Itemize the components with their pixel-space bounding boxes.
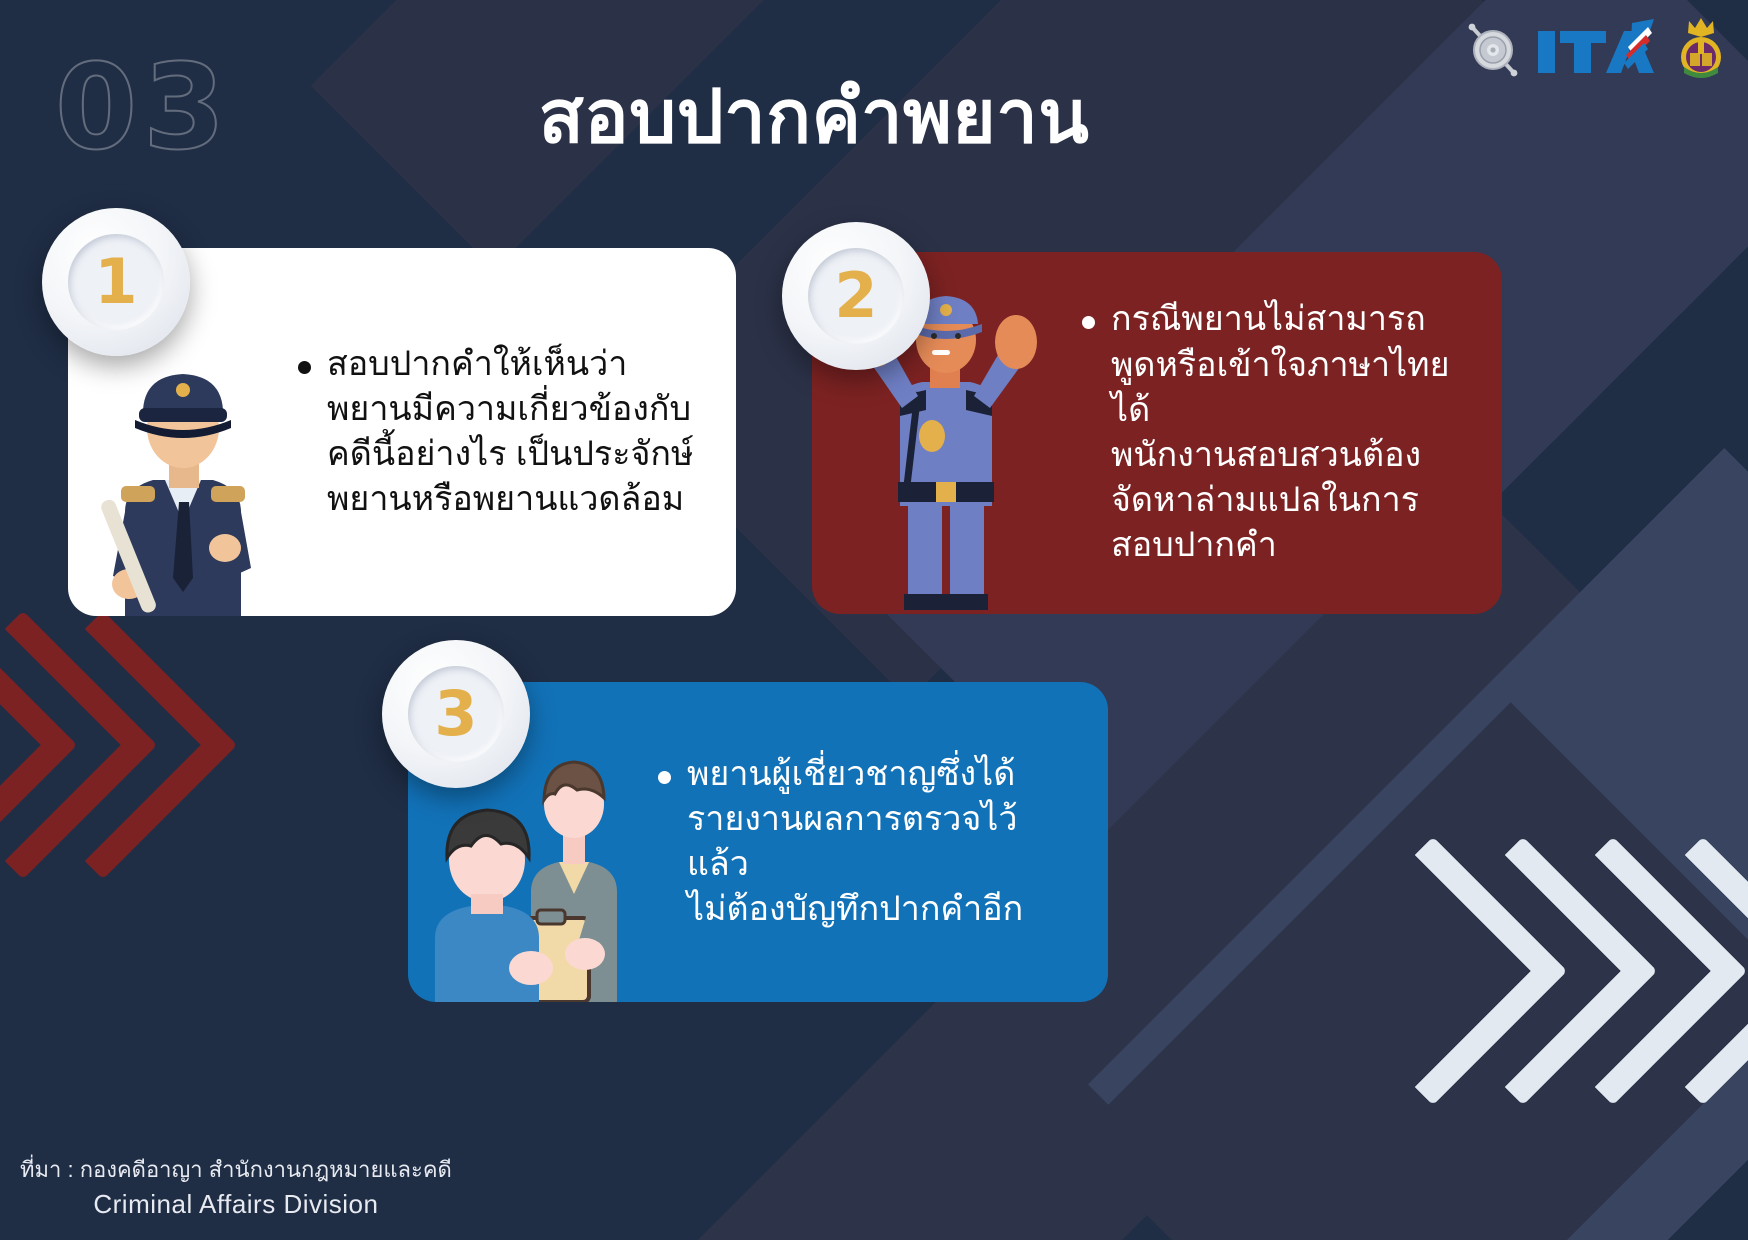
card-3-line-2: รายงานผลการตรวจไว้แล้ว [687, 797, 1072, 887]
bullet-dot [1082, 316, 1095, 329]
footer: ที่มา : กองคดีอาญา สำนักงานกฎหมายและคดี … [20, 1154, 452, 1224]
page-title: สอบปากคำพยาน [0, 78, 1748, 156]
chevron-white-3 [1479, 837, 1748, 1106]
card-2-line-5: สอบปากคำ [1111, 523, 1458, 568]
background-decoration [0, 0, 1748, 1240]
footer-division-line: Criminal Affairs Division [20, 1186, 452, 1224]
card-2-text: กรณีพยานไม่สามารถ พูดหรือเข้าใจภาษาไทยได… [1111, 297, 1458, 568]
card-1-line-3: คดีนี้อย่างไร เป็นประจักษ์ [327, 432, 693, 477]
card-2-line-4: จัดหาล่ามแปลในการ [1111, 478, 1458, 523]
step-badge-2-number: 2 [834, 265, 877, 327]
card-3-line-3: ไม่ต้องบัญทึกปากคำอีก [687, 887, 1072, 932]
police-officer-with-baton-icon [73, 316, 293, 616]
step-badge-1: 1 [42, 208, 190, 356]
card-3-text: พยานผู้เชี่ยวชาญซึ่งได้ รายงานผลการตรวจไ… [687, 752, 1072, 933]
step-badge-3: 3 [382, 640, 530, 788]
bullet-dot [658, 771, 671, 784]
step-badge-2: 2 [782, 222, 930, 370]
card-1-text: สอบปากคำให้เห็นว่า พยานมีความเกี่ยวข้องก… [327, 342, 693, 523]
card-1-line-4: พยานหรือพยานแวดล้อม [327, 477, 693, 522]
card-2-line-2: พูดหรือเข้าใจภาษาไทยได้ [1111, 343, 1458, 433]
chevron-white-4 [1569, 837, 1748, 1106]
chevron-red-2 [0, 611, 157, 880]
card-3-line-1: พยานผู้เชี่ยวชาญซึ่งได้ [687, 752, 1072, 797]
infographic-canvas: 03 สอบปากคำพยาน [0, 0, 1748, 1240]
ita-logo-icon [1536, 17, 1664, 83]
card-1-line-1: สอบปากคำให้เห็นว่า [327, 342, 693, 387]
step-badge-1-number: 1 [94, 251, 137, 313]
chevron-white-1 [1299, 837, 1568, 1106]
card-2-line-1: กรณีพยานไม่สามารถ [1111, 297, 1458, 342]
chevron-red-1 [0, 611, 77, 880]
chevron-white-2 [1389, 837, 1658, 1106]
footer-source-line: ที่มา : กองคดีอาญา สำนักงานกฎหมายและคดี [20, 1154, 452, 1186]
logo-group [1462, 12, 1726, 88]
card-1-line-2: พยานมีความเกี่ยวข้องกับ [327, 387, 693, 432]
royal-thai-police-emblem-icon [1462, 15, 1524, 85]
card-2-line-3: พนักงานสอบสวนต้อง [1111, 433, 1458, 478]
government-agency-emblem-icon [1676, 15, 1726, 85]
step-badge-3-number: 3 [434, 683, 477, 745]
chevron-red-3 [0, 611, 237, 880]
diagonal-shape-6 [1072, 702, 1748, 1240]
bullet-dot [298, 361, 311, 374]
